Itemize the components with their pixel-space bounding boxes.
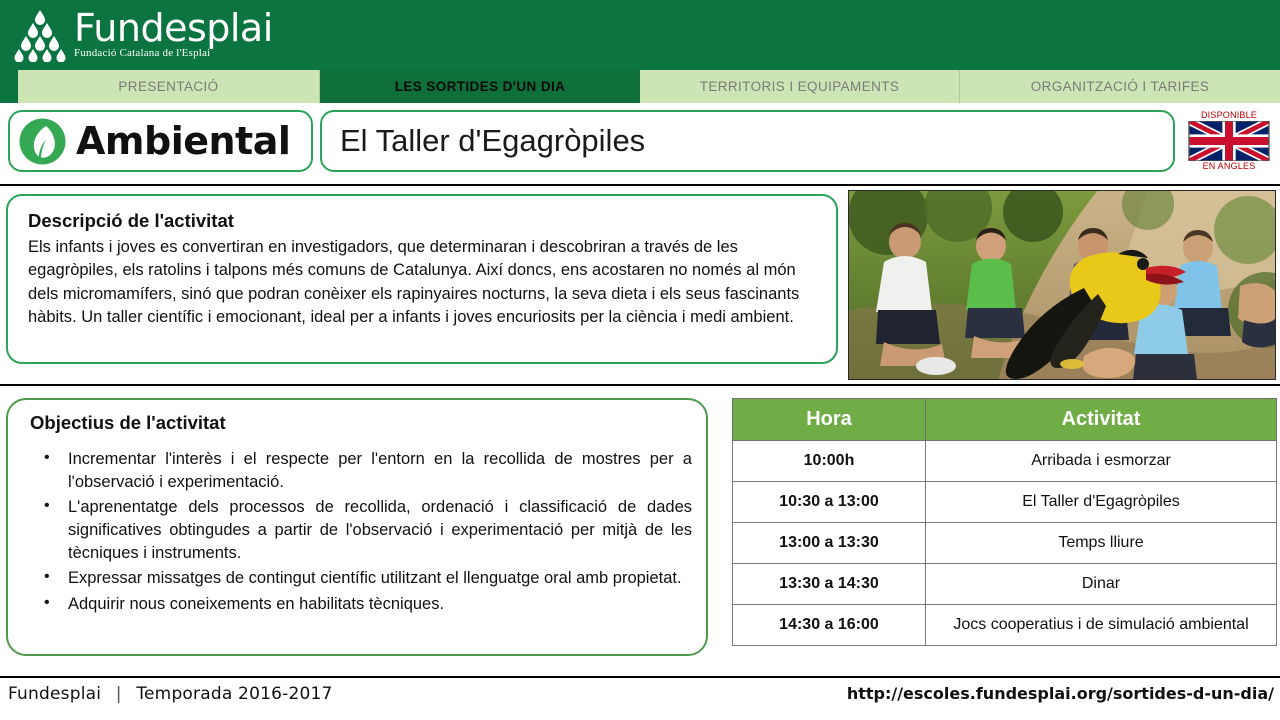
cell-hora: 14:30 a 16:00 [733,605,926,646]
leaf-icon [19,118,66,165]
table-row: 14:30 a 16:00 Jocs cooperatius i de simu… [733,605,1277,646]
objectives-title: Objectius de l'activitat [30,412,692,434]
uk-flag-icon [1188,121,1270,161]
cell-activitat: Dinar [926,564,1277,605]
cell-activitat: El Taller d'Egagròpiles [926,482,1277,523]
activity-title-box: El Taller d'Egagròpiles [320,110,1175,172]
objective-item: Expressar missatges de contingut científ… [34,567,692,590]
objective-item: Adquirir nous coneixements en habilitats… [34,593,692,616]
cell-hora: 10:00h [733,441,926,482]
objectives-list: Incrementar l'interès i el respecte per … [30,448,692,616]
column-header-activitat: Activitat [926,399,1277,441]
table-row: 13:00 a 13:30 Temps lliure [733,523,1277,564]
tab-les-sortides-dun-dia[interactable]: LES SORTIDES D'UN DIA [320,70,640,103]
photo-illustration [848,190,1276,380]
tab-territoris-i-equipaments[interactable]: TERRITORIS I EQUIPAMENTS [640,70,960,103]
page-title: El Taller d'Egagròpiles [340,123,645,159]
brand-name: Fundesplai [74,9,273,47]
activity-photo [848,190,1276,380]
tab-presentacio[interactable]: PRESENTACIÓ [18,70,320,103]
nav-left-edge [0,70,18,103]
main-navigation: PRESENTACIÓ LES SORTIDES D'UN DIA TERRIT… [0,70,1280,103]
slide-page: Fundesplai Fundació Catalana de l'Esplai… [0,0,1280,720]
category-badge[interactable]: Ambiental [8,110,313,172]
divider-under-title [0,184,1280,186]
table-row: 10:00h Arribada i esmorzar [733,441,1277,482]
footer-left: Fundesplai | Temporada 2016-2017 [8,684,333,704]
lang-badge-top-text: DISPONIBLE [1186,110,1272,121]
cell-activitat: Arribada i esmorzar [926,441,1277,482]
table-row: 13:30 a 14:30 Dinar [733,564,1277,605]
objective-item: Incrementar l'interès i el respecte per … [34,448,692,494]
language-availability-badge[interactable]: DISPONIBLE EN ANGLES [1186,110,1272,172]
footer-url[interactable]: http://escoles.fundesplai.org/sortides-d… [847,684,1274,703]
title-row: Ambiental El Taller d'Egagròpiles [0,108,1280,182]
footer-separator: | [116,684,122,704]
cell-activitat: Temps lliure [926,523,1277,564]
description-box: Descripció de l'activitat Els infants i … [6,194,838,364]
cell-hora: 13:00 a 13:30 [733,523,926,564]
lang-badge-bottom-text: EN ANGLES [1186,161,1272,172]
cell-hora: 10:30 a 13:00 [733,482,926,523]
schedule-table: Hora Activitat 10:00h Arribada i esmorza… [732,398,1277,646]
description-body: Els infants i joves es convertiran en in… [28,236,820,330]
objectives-box: Objectius de l'activitat Incrementar l'i… [6,398,708,656]
divider-under-description [0,384,1280,386]
page-footer: Fundesplai | Temporada 2016-2017 http://… [0,678,1280,720]
column-header-hora: Hora [733,399,926,441]
brand-logo[interactable]: Fundesplai Fundació Catalana de l'Esplai [0,8,273,62]
cell-hora: 13:30 a 14:30 [733,564,926,605]
table-row: 10:30 a 13:00 El Taller d'Egagròpiles [733,482,1277,523]
footer-brand: Fundesplai [8,684,101,704]
cell-activitat: Jocs cooperatius i de simulació ambienta… [926,605,1277,646]
category-label: Ambiental [76,119,290,163]
objective-item: L'aprenentatge dels processos de recolli… [34,496,692,565]
footer-season: Temporada 2016-2017 [136,684,332,704]
droplet-cluster-logo-icon [12,8,68,62]
description-title: Descripció de l'activitat [28,210,820,232]
brand-header-bar: Fundesplai Fundació Catalana de l'Esplai [0,0,1280,70]
table-header-row: Hora Activitat [733,399,1277,441]
tab-organitzacio-i-tarifes[interactable]: ORGANITZACIÓ I TARIFES [960,70,1280,103]
